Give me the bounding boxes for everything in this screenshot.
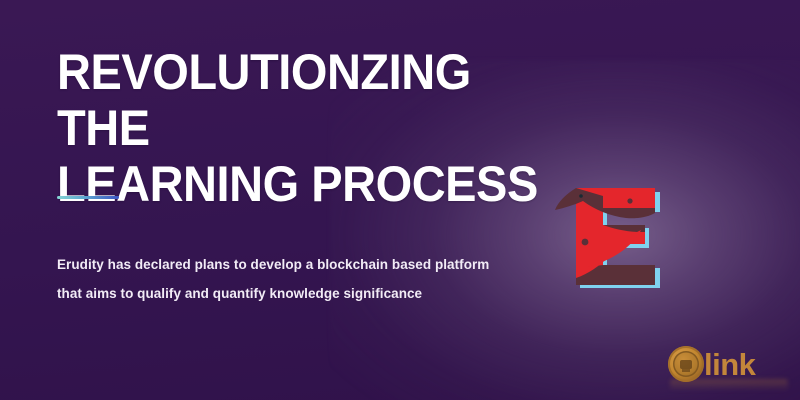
- promo-banner: REVOLUTIONZING THE LEARNING PROCESS Erud…: [0, 0, 800, 400]
- erudity-e-logo-icon: [552, 182, 670, 294]
- description-text: Erudity has declared plans to develop a …: [57, 250, 517, 308]
- coin-icon: [668, 346, 704, 382]
- watermark-reflection: [670, 379, 788, 391]
- coin-emblem-mark: [680, 360, 692, 369]
- page-title: REVOLUTIONZING THE LEARNING PROCESS: [57, 44, 546, 212]
- watermark-wordmark: link: [704, 349, 755, 380]
- title-divider: [57, 196, 119, 199]
- coin-inner-ring: [673, 351, 699, 377]
- icolink-watermark: link: [668, 340, 792, 388]
- text-content: REVOLUTIONZING THE LEARNING PROCESS Erud…: [57, 0, 577, 400]
